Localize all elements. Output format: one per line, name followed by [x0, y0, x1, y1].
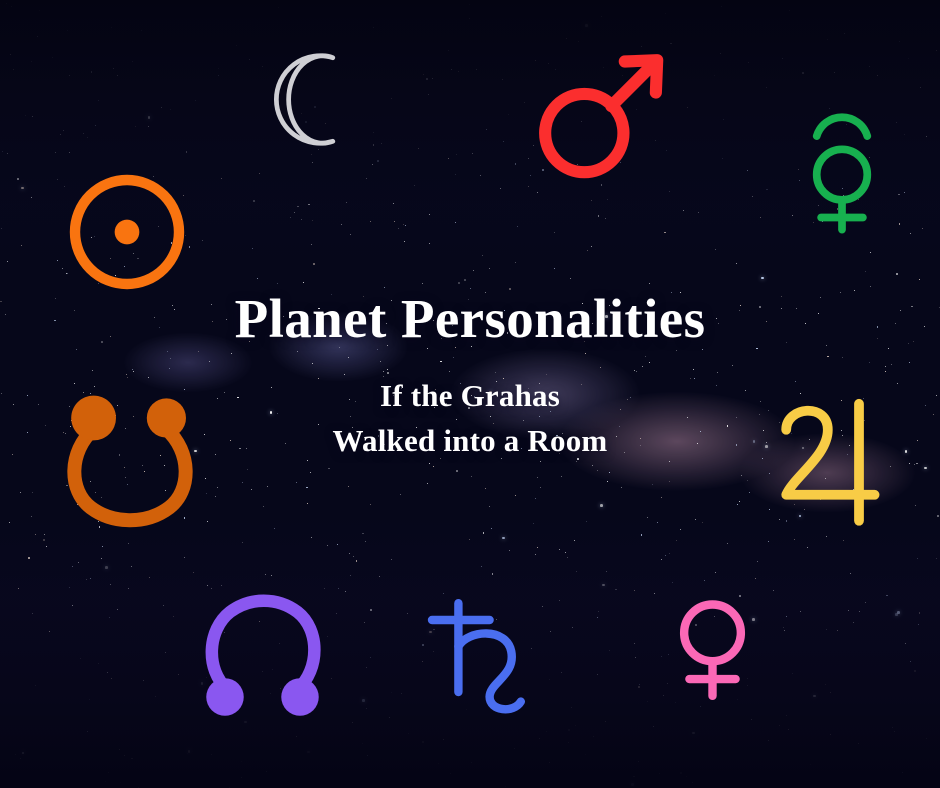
ketu-south-node-symbol-glyph: [200, 592, 325, 717]
venus-symbol-glyph: [660, 594, 765, 699]
saturn-symbol: [420, 596, 540, 716]
planet-personalities-poster: Planet Personalities If the Grahas Walke…: [0, 0, 940, 788]
mars-symbol: [533, 48, 668, 183]
jupiter-symbol: [768, 396, 898, 526]
sun-symbol-glyph: [62, 167, 192, 297]
sun-symbol: [62, 167, 192, 297]
moon-crescent-symbol: [272, 52, 367, 147]
mercury-symbol-glyph: [787, 124, 897, 234]
venus-symbol: [660, 594, 765, 699]
jupiter-symbol-glyph: [768, 396, 898, 526]
saturn-symbol-glyph: [420, 596, 540, 716]
rahu-north-node-symbol: [60, 390, 200, 530]
ketu-south-node-symbol: [200, 592, 325, 717]
mars-symbol-glyph: [533, 48, 668, 183]
moon-crescent-symbol-glyph: [272, 52, 367, 147]
mercury-symbol: [787, 124, 897, 234]
rahu-north-node-symbol-glyph: [60, 390, 200, 530]
